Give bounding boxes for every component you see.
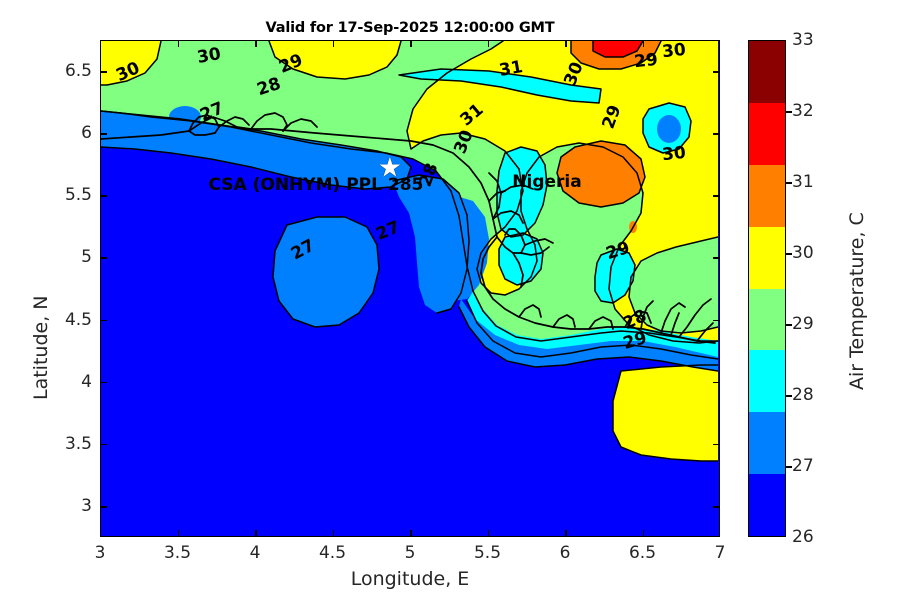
x-tick-label: 4.5 [319,543,346,563]
x-tick-label: 5 [405,543,416,563]
y-tick-label: 4.5 [50,310,92,330]
y-tick-mark [100,382,107,384]
colorbar [748,40,786,537]
colorbar-tick-label: 33 [792,30,814,50]
y-tick-label: 3.5 [50,434,92,454]
colorbar-band-light-blue [749,412,785,474]
x-tick-mark [410,530,412,537]
map-place-label: Nigeria [512,172,581,192]
y-tick-mark-right [713,133,720,135]
location-star-marker: ★ [378,154,402,181]
colorbar-tick-mark [786,182,792,184]
y-tick-mark [100,195,107,197]
y-tick-mark [100,133,107,135]
y-tick-mark-right [713,195,720,197]
y-tick-mark [100,506,107,508]
x-tick-mark-top [410,40,412,47]
y-tick-mark-right [713,444,720,446]
y-tick-mark-right [713,320,720,322]
y-tick-mark [100,257,107,259]
y-tick-label: 6 [50,123,92,143]
contour-label-31: 31 [497,57,524,81]
x-tick-mark-top [255,40,257,47]
colorbar-band-light-green [749,289,785,351]
colorbar-tick-label: 28 [792,385,814,405]
x-tick-mark-top [488,40,490,47]
x-tick-label: 6 [560,543,571,563]
colorbar-band-orange [749,165,785,227]
colorbar-tick-label: 31 [792,172,814,192]
colorbar-tick-mark [786,466,792,468]
x-tick-mark-top [333,40,335,47]
x-tick-mark [178,530,180,537]
colorbar-tick-label: 27 [792,456,814,476]
colorbar-band-cyan [749,350,785,412]
colorbar-tick-label: 26 [792,527,814,547]
x-tick-label: 4 [250,543,261,563]
colorbar-tick-mark [786,324,792,326]
figure-root: Valid for 17-Sep-2025 12:00:00 GMT [0,0,900,600]
colorbar-tick-mark [786,253,792,255]
x-tick-mark-top [178,40,180,47]
colorbar-tick-label: 29 [792,314,814,334]
x-tick-mark-top [643,40,645,47]
contour-label-30: 30 [195,44,222,68]
colorbar-band-yellow [749,227,785,289]
colorbar-band-red [749,103,785,165]
page-title: Valid for 17-Sep-2025 12:00:00 GMT [100,20,720,36]
y-tick-label: 4 [50,372,92,392]
y-tick-mark-right [713,506,720,508]
y-tick-mark-right [713,382,720,384]
x-tick-label: 3 [95,543,106,563]
colorbar-tick-mark [786,395,792,397]
x-tick-label: 5.5 [474,543,501,563]
colorbar-axis-label: Air Temperature, C [846,212,868,390]
x-tick-mark [565,530,567,537]
contour-label-30: 30 [661,143,687,165]
y-tick-label: 5.5 [50,185,92,205]
x-tick-mark [488,530,490,537]
contour-label-30: 30 [661,40,687,62]
colorbar-tick-label: 32 [792,101,814,121]
y-axis-label: Latitude, N [30,296,52,401]
y-tick-mark-right [713,257,720,259]
x-axis-label: Longitude, E [100,568,720,590]
y-tick-mark [100,71,107,73]
y-tick-mark-right [713,71,720,73]
contour-plot-area [100,40,720,537]
y-tick-label: 3 [50,496,92,516]
colorbar-band-blue [749,474,785,536]
x-tick-mark-top [565,40,567,47]
x-tick-label: 6.5 [629,543,656,563]
y-tick-label: 5 [50,247,92,267]
y-tick-label: 6.5 [50,61,92,81]
x-tick-label: 7 [715,543,726,563]
y-tick-mark [100,444,107,446]
x-tick-mark [643,530,645,537]
x-tick-mark [333,530,335,537]
colorbar-tick-mark [786,111,792,113]
colorbar-band-dark-red [749,41,785,103]
y-tick-mark [100,320,107,322]
contour-map-svg [101,41,718,535]
x-tick-mark [255,530,257,537]
colorbar-tick-label: 30 [792,243,814,263]
contour-label-29: 29 [633,50,659,72]
x-tick-label: 3.5 [164,543,191,563]
